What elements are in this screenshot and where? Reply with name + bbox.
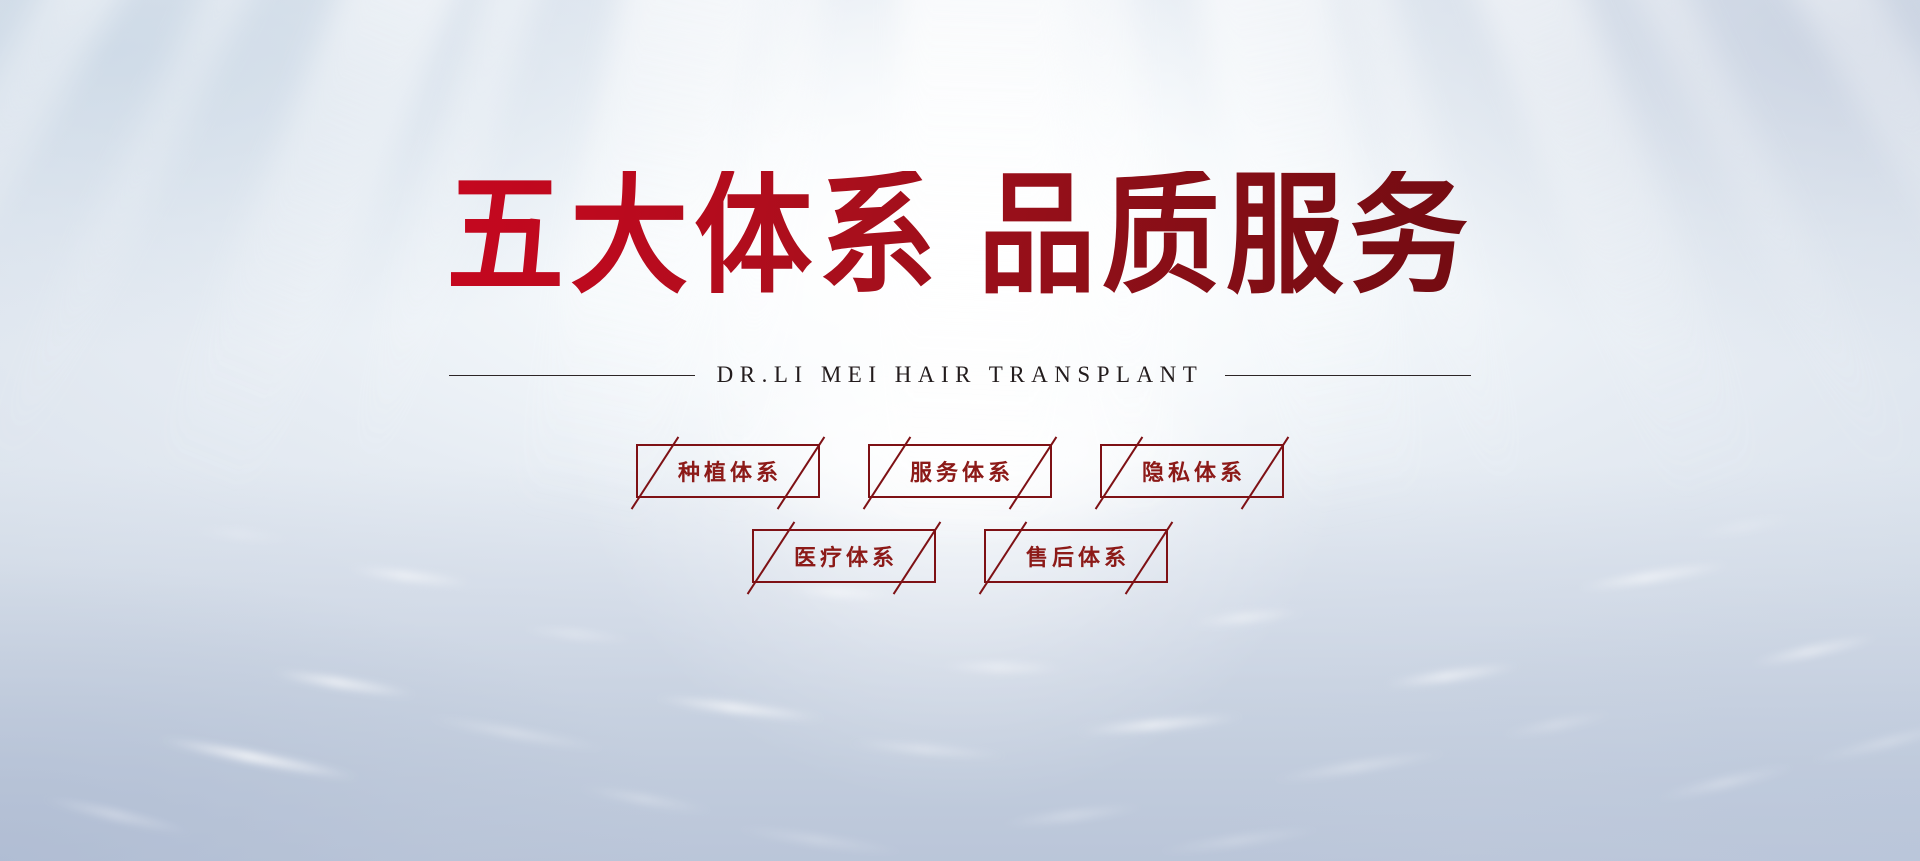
slash-left-icon: [979, 521, 1028, 594]
slash-left-icon: [863, 436, 912, 509]
subtitle-text: DR.LI MEI HAIR TRANSPLANT: [717, 362, 1204, 388]
slash-left-icon: [747, 521, 796, 594]
tag-label: 服务体系: [906, 455, 1014, 487]
subtitle-rule-right: [1225, 375, 1471, 376]
tag-box[interactable]: 医疗体系: [752, 529, 936, 583]
page-title: 五大体系 品质服务: [446, 171, 1474, 303]
slash-right-icon: [777, 436, 826, 509]
tag-label: 种植体系: [674, 455, 782, 487]
tag-box[interactable]: 服务体系: [868, 444, 1052, 498]
tag-label: 售后体系: [1022, 540, 1130, 572]
subtitle-row: DR.LI MEI HAIR TRANSPLANT: [449, 362, 1472, 388]
banner-content: 五大体系 品质服务 DR.LI MEI HAIR TRANSPLANT 种植体系…: [0, 0, 1920, 861]
hero-banner: 五大体系 品质服务 DR.LI MEI HAIR TRANSPLANT 种植体系…: [0, 0, 1920, 861]
slash-right-icon: [1125, 521, 1174, 594]
tag-row-1: 种植体系 服务体系 隐私体系: [636, 444, 1284, 498]
tag-box[interactable]: 隐私体系: [1100, 444, 1284, 498]
slash-right-icon: [1241, 436, 1290, 509]
tag-box[interactable]: 售后体系: [984, 529, 1168, 583]
slash-left-icon: [1095, 436, 1144, 509]
tag-label: 医疗体系: [790, 540, 898, 572]
slash-left-icon: [631, 436, 680, 509]
tag-row-2: 医疗体系 售后体系: [752, 529, 1168, 583]
tag-label: 隐私体系: [1138, 455, 1246, 487]
tag-box[interactable]: 种植体系: [636, 444, 820, 498]
slash-right-icon: [893, 521, 942, 594]
slash-right-icon: [1009, 436, 1058, 509]
subtitle-rule-left: [449, 375, 695, 376]
